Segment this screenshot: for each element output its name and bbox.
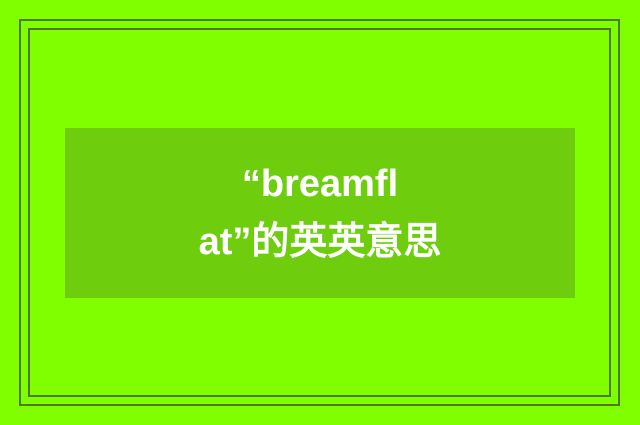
title-panel: “breamfl at”的英英意思: [65, 128, 575, 298]
title-line-1: “breamfl: [242, 155, 398, 213]
title-line-2: at”的英英意思: [199, 213, 442, 271]
poster-canvas: “breamfl at”的英英意思: [0, 0, 640, 425]
